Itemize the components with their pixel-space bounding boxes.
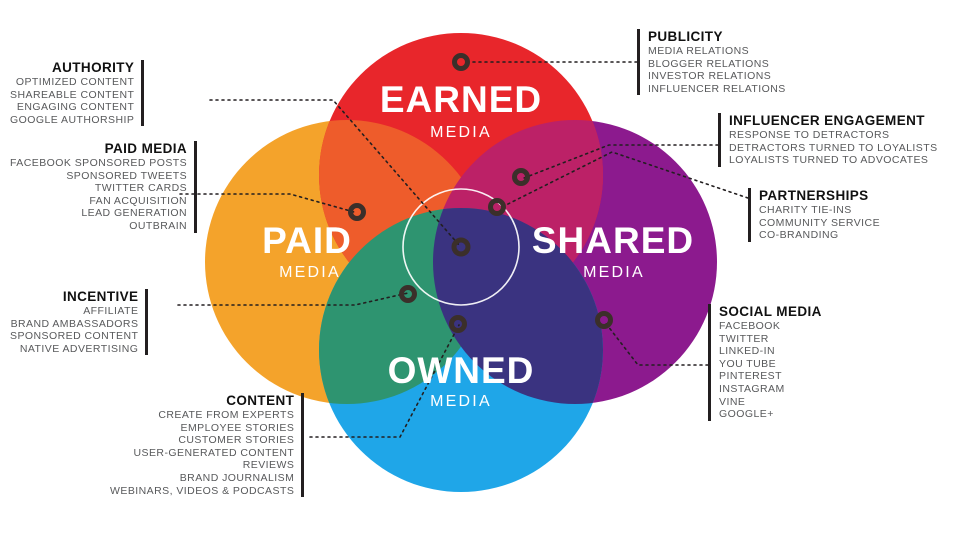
callout-item: FACEBOOK [719, 320, 780, 333]
callout-title: INFLUENCER ENGAGEMENT [729, 113, 925, 129]
callout-title: AUTHORITY [52, 60, 134, 76]
callout-item: TWITTER [719, 333, 769, 346]
callout-title: SOCIAL MEDIA [719, 304, 822, 320]
callout-item: SHAREABLE CONTENT [10, 89, 134, 102]
callout-item: DETRACTORS TURNED TO LOYALISTS [729, 142, 938, 155]
callout-item: FAN ACQUISITION [89, 195, 187, 208]
label-paid: PAID [262, 220, 352, 261]
callout-incentive: INCENTIVE AFFILIATE BRAND AMBASSADORS SP… [10, 289, 148, 355]
callout-authority: AUTHORITY OPTIMIZED CONTENT SHAREABLE CO… [10, 60, 144, 126]
callout-item: GOOGLE+ [719, 408, 774, 421]
diagram-canvas: EARNED MEDIA PAID MEDIA SHARED MEDIA OWN… [0, 0, 975, 548]
callout-item: MEDIA RELATIONS [648, 45, 749, 58]
callout-item: GOOGLE AUTHORSHIP [10, 114, 134, 127]
callout-item: BRAND AMBASSADORS [11, 318, 139, 331]
label-shared-sub: MEDIA [583, 264, 645, 281]
callout-item: TWITTER CARDS [95, 182, 187, 195]
callout-item: CO-BRANDING [759, 229, 839, 242]
callout-title: PARTNERSHIPS [759, 188, 869, 204]
label-shared: SHARED [532, 220, 694, 261]
callout-item: OUTBRAIN [129, 220, 187, 233]
callout-item: WEBINARS, VIDEOS & PODCASTS [110, 485, 294, 498]
callout-title: PAID MEDIA [105, 141, 188, 157]
callout-item: FACEBOOK SPONSORED POSTS [10, 157, 187, 170]
callout-rule [301, 393, 304, 497]
callout-item: CHARITY TIE-INS [759, 204, 852, 217]
label-earned-sub: MEDIA [430, 124, 492, 141]
callout-content: CONTENT CREATE FROM EXPERTS EMPLOYEE STO… [110, 393, 304, 497]
callout-item: INVESTOR RELATIONS [648, 70, 771, 83]
callout-item: SPONSORED CONTENT [10, 330, 138, 343]
callout-item: AFFILIATE [83, 305, 138, 318]
callout-item: LOYALISTS TURNED TO ADVOCATES [729, 154, 928, 167]
callout-influencer-engagement: INFLUENCER ENGAGEMENT RESPONSE TO DETRAC… [718, 113, 938, 167]
callout-paid-media: PAID MEDIA FACEBOOK SPONSORED POSTS SPON… [10, 141, 197, 233]
callout-rule [141, 60, 144, 126]
callout-item: VINE [719, 396, 745, 409]
callout-title: INCENTIVE [63, 289, 139, 305]
callout-item: SPONSORED TWEETS [66, 170, 187, 183]
callout-item: EMPLOYEE STORIES [180, 422, 294, 435]
callout-social-media: SOCIAL MEDIA FACEBOOK TWITTER LINKED-IN … [708, 304, 822, 421]
callout-item: BRAND JOURNALISM [180, 472, 295, 485]
callout-rule [145, 289, 148, 355]
callout-item: BLOGGER RELATIONS [648, 58, 769, 71]
callout-item: INFLUENCER RELATIONS [648, 83, 786, 96]
callout-item: CREATE FROM EXPERTS [158, 409, 294, 422]
callout-item: OPTIMIZED CONTENT [16, 76, 134, 89]
callout-item: ENGAGING CONTENT [17, 101, 134, 114]
callout-item: INSTAGRAM [719, 383, 785, 396]
callout-item: RESPONSE TO DETRACTORS [729, 129, 889, 142]
callout-item: YOU TUBE [719, 358, 776, 371]
callout-publicity: PUBLICITY MEDIA RELATIONS BLOGGER RELATI… [637, 29, 786, 95]
label-earned: EARNED [380, 79, 542, 120]
callout-partnerships: PARTNERSHIPS CHARITY TIE-INS COMMUNITY S… [748, 188, 880, 242]
callout-item: NATIVE ADVERTISING [20, 343, 139, 356]
callout-item: USER-GENERATED CONTENT [133, 447, 294, 460]
callout-title: PUBLICITY [648, 29, 723, 45]
label-owned-sub: MEDIA [430, 393, 492, 410]
callout-title: CONTENT [226, 393, 294, 409]
callout-item: REVIEWS [243, 459, 295, 472]
label-owned: OWNED [388, 350, 535, 391]
callout-rule [194, 141, 197, 233]
callout-item: LINKED-IN [719, 345, 775, 358]
callout-item: LEAD GENERATION [81, 207, 187, 220]
callout-item: PINTEREST [719, 370, 782, 383]
callout-item: COMMUNITY SERVICE [759, 217, 880, 230]
label-paid-sub: MEDIA [279, 264, 341, 281]
callout-item: CUSTOMER STORIES [178, 434, 294, 447]
